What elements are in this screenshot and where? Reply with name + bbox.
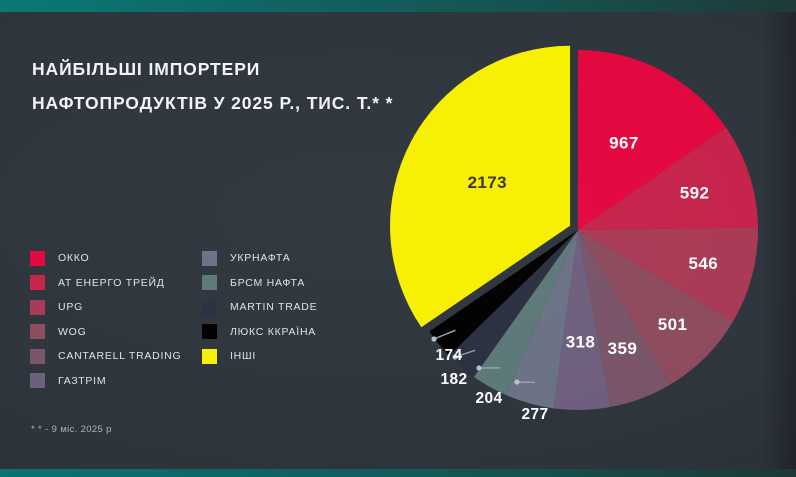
- legend-item-inshi: ІНШІ: [202, 344, 370, 369]
- page-title: НАЙБІЛЬШІ ІМПОРТЕРИ НАФТОПРОДУКТІВ У 202…: [32, 52, 432, 120]
- legend-label-upg: UPG: [58, 301, 83, 313]
- legend-item-gaztrim: ГАЗТРІМ: [30, 369, 202, 394]
- legend-item-upg: UPG: [30, 295, 202, 320]
- legend-label-wog: WOG: [58, 326, 87, 338]
- slice-value-ukrnafta: 277: [521, 406, 548, 423]
- legend-swatch-wog: [30, 324, 45, 339]
- legend-label-martin-trade: MARTIN TRADE: [230, 301, 317, 313]
- slice-value-gaztrim: 318: [566, 333, 596, 352]
- legend-item-ukrnafta: УКРНАФТА: [202, 246, 370, 271]
- bottom-accent-strip: [0, 469, 796, 477]
- legend-swatch-ukrnafta: [202, 251, 217, 266]
- slice-value-cantarell-trading: 359: [608, 339, 638, 358]
- legend-item-cantarell-trading: CANTARELL TRADING: [30, 344, 202, 369]
- slice-value-upg: 546: [689, 254, 719, 273]
- legend-label-ukrnafta: УКРНАФТА: [230, 252, 291, 264]
- legend-column-1: ОККО АТ ЕНЕРГО ТРЕЙД UPG WOG CANTARELL T…: [30, 246, 202, 393]
- legend-label-cantarell-trading: CANTARELL TRADING: [58, 350, 181, 362]
- chart-legend: ОККО АТ ЕНЕРГО ТРЕЙД UPG WOG CANTARELL T…: [30, 246, 370, 393]
- legend-swatch-cantarell-trading: [30, 349, 45, 364]
- leader-dot-ukrnafta: [514, 379, 519, 384]
- legend-item-wog: WOG: [30, 320, 202, 345]
- slice-value-wog: 501: [658, 315, 688, 334]
- legend-swatch-lyuks-kkraina: [202, 324, 217, 339]
- legend-swatch-martin-trade: [202, 300, 217, 315]
- legend-item-okko: ОККО: [30, 246, 202, 271]
- legend-label-okko: ОККО: [58, 252, 89, 264]
- top-accent-strip: [0, 0, 796, 12]
- legend-swatch-brsm-nafta: [202, 275, 217, 290]
- slice-value-inshi: 2173: [468, 173, 507, 192]
- legend-label-inshi: ІНШІ: [230, 350, 256, 362]
- legend-swatch-at-energo-treid: [30, 275, 45, 290]
- legend-label-gaztrim: ГАЗТРІМ: [58, 375, 106, 387]
- slice-value-brsm-nafta: 204: [475, 390, 502, 407]
- slide-canvas: НАЙБІЛЬШІ ІМПОРТЕРИ НАФТОПРОДУКТІВ У 202…: [0, 0, 796, 477]
- legend-swatch-inshi: [202, 349, 217, 364]
- title-line-2: НАФТОПРОДУКТІВ У 2025 Р., ТИС. Т.* *: [32, 86, 432, 120]
- legend-label-lyuks-kkraina: ЛЮКС ККРАЇНА: [230, 326, 316, 338]
- slice-value-okko: 967: [609, 133, 639, 152]
- legend-item-brsm-nafta: БРСМ НАФТА: [202, 271, 370, 296]
- leader-dot-lyuks-kkraina: [431, 336, 436, 341]
- slice-value-at-energo-treid: 592: [680, 184, 710, 203]
- legend-label-at-energo-treid: АТ ЕНЕРГО ТРЕЙД: [58, 277, 165, 289]
- legend-swatch-upg: [30, 300, 45, 315]
- legend-item-lyuks-kkraina: ЛЮКС ККРАЇНА: [202, 320, 370, 345]
- leader-dot-brsm-nafta: [476, 365, 481, 370]
- legend-swatch-gaztrim: [30, 373, 45, 388]
- legend-column-2: УКРНАФТА БРСМ НАФТА MARTIN TRADE ЛЮКС КК…: [202, 246, 370, 393]
- legend-item-at-energo-treid: АТ ЕНЕРГО ТРЕЙД: [30, 271, 202, 296]
- legend-item-martin-trade: MARTIN TRADE: [202, 295, 370, 320]
- legend-swatch-okko: [30, 251, 45, 266]
- slice-value-martin-trade: 182: [440, 371, 467, 388]
- legend-label-brsm-nafta: БРСМ НАФТА: [230, 277, 305, 289]
- slice-value-lyuks-kkraina: 174: [435, 347, 462, 364]
- footnote: * * - 9 міс. 2025 р: [31, 424, 112, 435]
- title-line-1: НАЙБІЛЬШІ ІМПОРТЕРИ: [32, 52, 432, 86]
